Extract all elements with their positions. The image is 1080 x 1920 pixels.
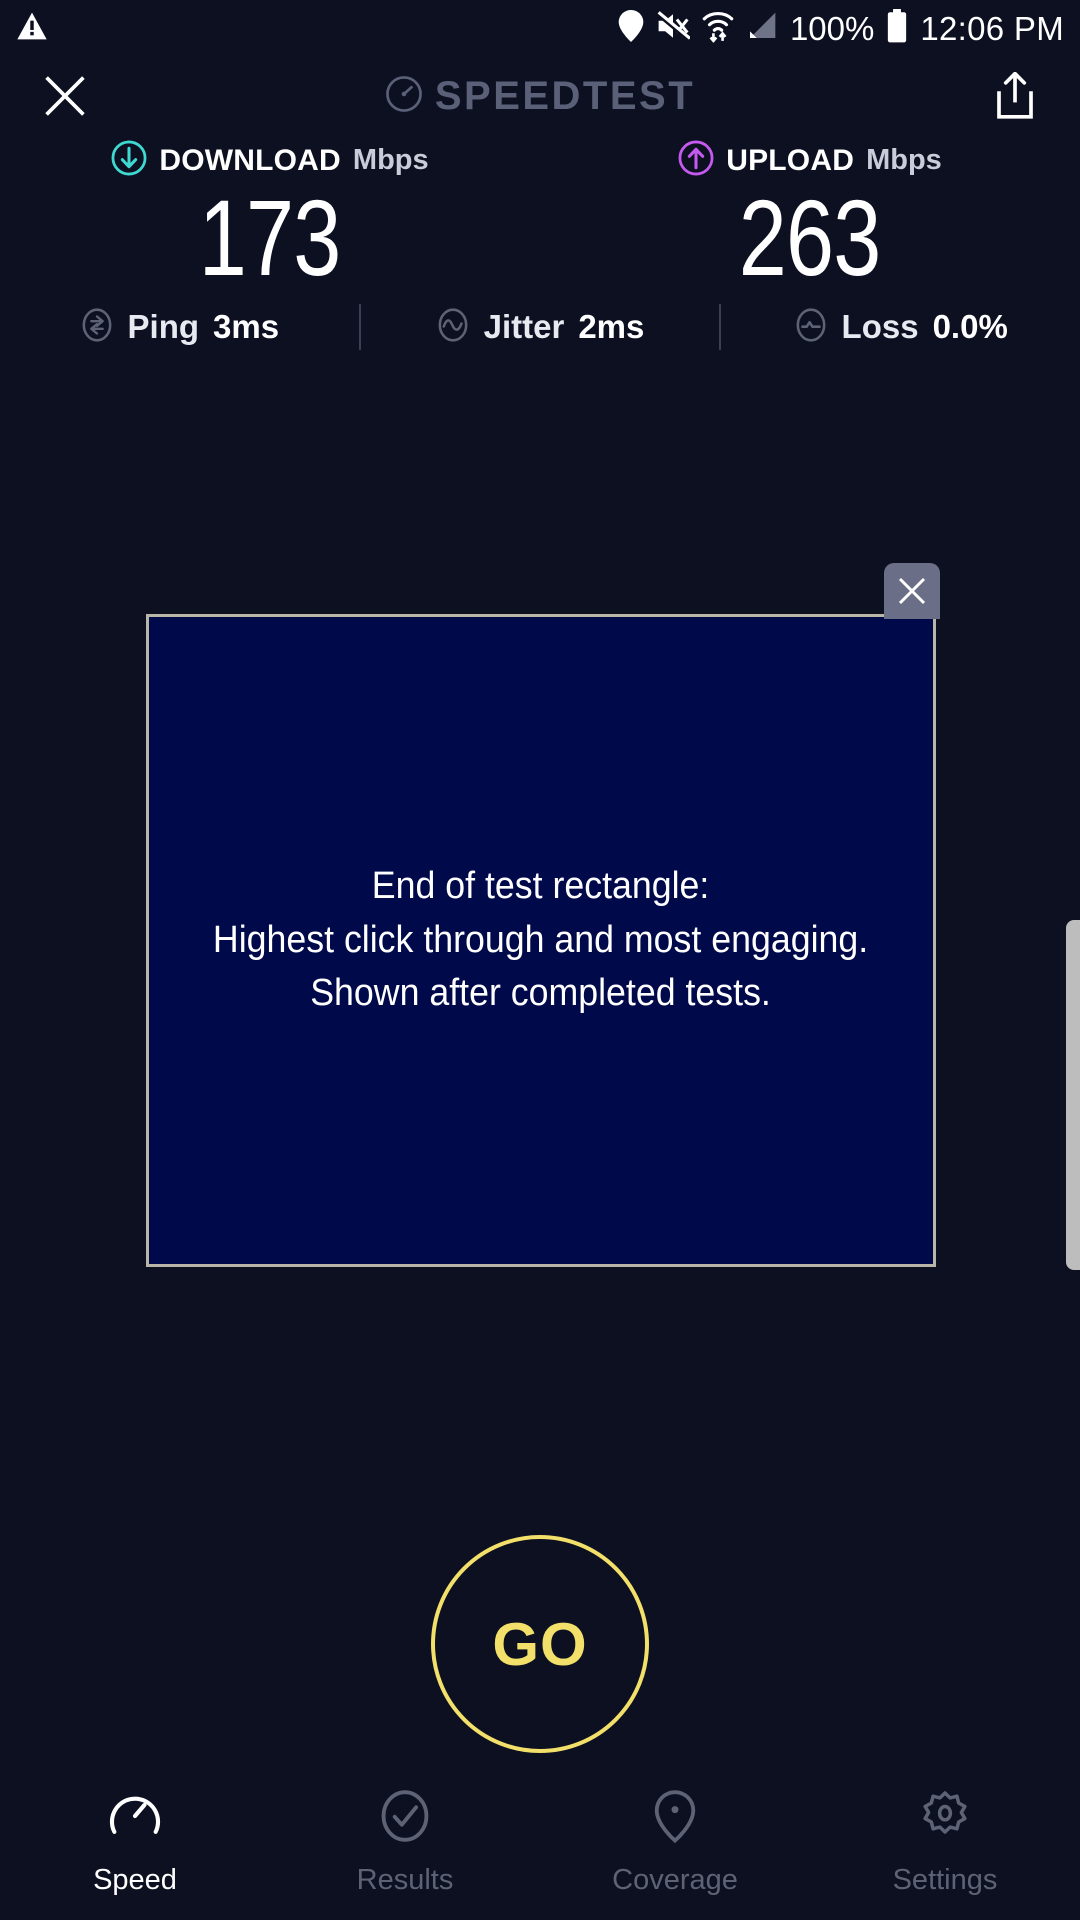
upload-label: UPLOAD (726, 144, 854, 178)
nav-label-settings: Settings (893, 1864, 998, 1897)
speed-row: DOWNLOAD Mbps 173 UPLOAD Mbps (0, 140, 1080, 293)
brand-title: SPEEDTEST (435, 74, 695, 119)
download-unit: Mbps (353, 144, 429, 177)
nav-label-results: Results (357, 1864, 454, 1897)
upload-result: UPLOAD Mbps 263 (540, 140, 1080, 293)
download-arrow-icon (111, 140, 147, 181)
download-result: DOWNLOAD Mbps 173 (0, 140, 540, 293)
cellular-signal-icon (746, 11, 778, 46)
speedometer-icon (108, 1789, 162, 1848)
gear-icon (918, 1789, 972, 1848)
metric-loss: Loss 0.0% (721, 308, 1080, 347)
metric-jitter: Jitter 2ms (361, 308, 720, 347)
ping-value: 3ms (213, 308, 279, 346)
bottom-navigation-bar: Speed Results Coverage (0, 1765, 1080, 1920)
clock-label: 12:06 PM (920, 12, 1064, 45)
upload-value: 263 (739, 183, 881, 293)
speedtest-app-screen: 100% 12:06 PM SP (0, 0, 1080, 1920)
upload-header: UPLOAD Mbps (678, 140, 942, 181)
ping-label: Ping (128, 308, 200, 346)
metrics-row: Ping 3ms Jitter 2ms Loss 0.0 (0, 298, 1080, 356)
upload-arrow-icon (678, 140, 714, 181)
app-header: SPEEDTEST (0, 56, 1080, 136)
speed-results: DOWNLOAD Mbps 173 UPLOAD Mbps (0, 140, 1080, 293)
location-pin-icon (618, 10, 644, 47)
close-icon (42, 73, 88, 119)
mute-icon (656, 11, 690, 46)
advertisement-text: End of test rectangle: Highest click thr… (213, 860, 868, 1022)
nav-label-coverage: Coverage (612, 1864, 738, 1897)
location-pin-icon (648, 1789, 702, 1848)
nav-item-speed[interactable]: Speed (0, 1765, 270, 1920)
go-button[interactable]: GO (431, 1535, 649, 1753)
loss-icon (794, 308, 828, 347)
share-icon (994, 72, 1036, 120)
jitter-value: 2ms (578, 308, 644, 346)
upload-unit: Mbps (866, 144, 942, 177)
ad-close-button[interactable] (884, 563, 940, 619)
status-bar: 100% 12:06 PM (0, 0, 1080, 56)
speedometer-icon (385, 75, 423, 118)
battery-percent-label: 100% (790, 12, 874, 45)
close-button[interactable] (36, 67, 94, 125)
download-value: 173 (199, 183, 341, 293)
nav-item-settings[interactable]: Settings (810, 1765, 1080, 1920)
wifi-icon (702, 9, 734, 48)
jitter-icon (436, 308, 470, 347)
advertisement-banner[interactable]: End of test rectangle: Highest click thr… (146, 614, 936, 1267)
jitter-label: Jitter (484, 308, 565, 346)
download-label: DOWNLOAD (159, 144, 341, 178)
ping-icon (80, 308, 114, 347)
share-button[interactable] (986, 67, 1044, 125)
go-button-label: GO (492, 1610, 587, 1679)
status-bar-left (16, 11, 48, 46)
download-header: DOWNLOAD Mbps (111, 140, 428, 181)
check-circle-icon (378, 1789, 432, 1848)
nav-item-coverage[interactable]: Coverage (540, 1765, 810, 1920)
metric-ping: Ping 3ms (0, 308, 359, 347)
warning-triangle-icon (16, 11, 48, 46)
page-scrollbar[interactable] (1066, 920, 1080, 1270)
nav-label-speed: Speed (93, 1864, 177, 1897)
loss-label: Loss (842, 308, 919, 346)
status-bar-right: 100% 12:06 PM (618, 9, 1064, 48)
loss-value: 0.0% (933, 308, 1008, 346)
close-icon (896, 575, 928, 607)
nav-item-results[interactable]: Results (270, 1765, 540, 1920)
brand: SPEEDTEST (0, 74, 1080, 119)
battery-full-icon (886, 9, 908, 48)
